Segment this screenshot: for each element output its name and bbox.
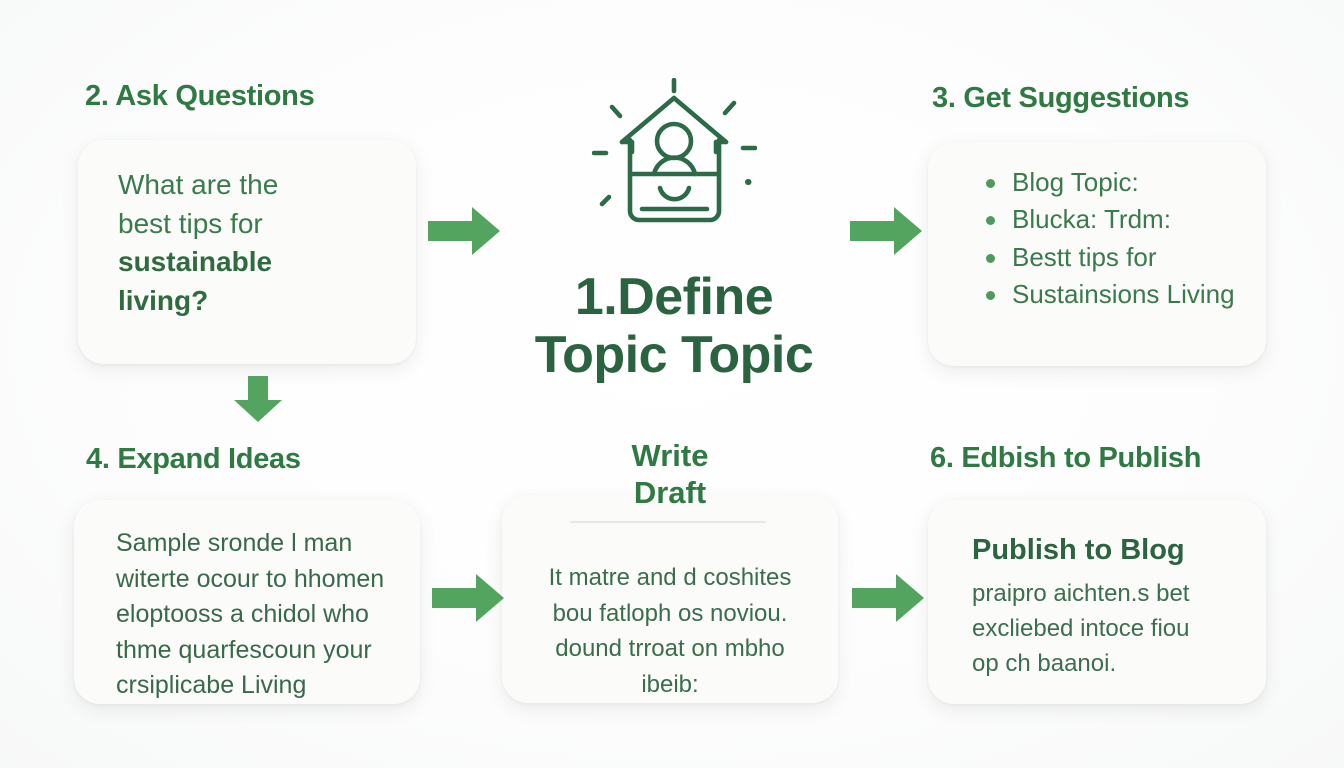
ask-line-3: sustainable: [118, 243, 388, 282]
expand-line-3: eloptooss a chidol who: [116, 597, 406, 633]
expand-line-5: crsiplicabe Living: [116, 668, 406, 704]
draft-line-4: ibeib:: [524, 667, 816, 703]
card-get-suggestions[interactable]: Blog Topic: Blucka: Trdm: Bestt tips for…: [928, 142, 1266, 366]
ask-line-1: What are the: [118, 166, 388, 205]
ask-line-2: best tips for: [118, 205, 388, 244]
expand-ideas-text: Sample sronde l man witerte ocour to hho…: [116, 526, 406, 704]
card-publish[interactable]: Publish to Blog praipro aichten.s bet ex…: [928, 500, 1266, 704]
ask-questions-text: What are the best tips for sustainable l…: [118, 166, 388, 321]
expand-line-2: witerte ocour to hhomen: [116, 562, 406, 598]
arrow-center-to-suggestions: [848, 205, 924, 257]
arrow-expand-to-draft: [430, 572, 506, 624]
arrow-draft-to-publish: [850, 572, 926, 624]
list-item: Blucka: Trdm:: [976, 201, 1244, 238]
heading-expand-ideas: 4. Expand Ideas: [86, 443, 301, 476]
draft-line-3: dound trroat on mbho: [524, 631, 816, 667]
list-item: Sustainsions Living: [976, 276, 1244, 313]
center-title-line-2: Topic Topic: [462, 326, 886, 384]
write-draft-text: It matre and d coshites bou fatloph os n…: [524, 560, 816, 702]
infographic-canvas: 2. Ask Questions What are the best tips …: [0, 0, 1344, 768]
center-title-line-1: 1.Define: [462, 268, 886, 326]
draft-heading-line-2: Draft: [540, 474, 800, 511]
draft-line-2: bou fatloph os noviou.: [524, 596, 816, 632]
publish-card-text: praipro aichten.s bet excliebed intoce f…: [972, 576, 1252, 681]
expand-line-4: thme quarfescoun your: [116, 633, 406, 669]
heading-ask-questions: 2. Ask Questions: [85, 80, 314, 113]
draft-line-1: It matre and d coshites: [524, 560, 816, 596]
heading-write-draft: Write Draft: [540, 437, 800, 511]
center-title: 1.Define Topic Topic: [462, 268, 886, 384]
expand-line-1: Sample sronde l man: [116, 526, 406, 562]
publish-line-1: praipro aichten.s bet: [972, 576, 1252, 611]
heading-publish: 6. Edbish to Publish: [930, 442, 1201, 475]
publish-card-title: Publish to Blog: [972, 534, 1185, 567]
publish-line-2: excliebed intoce fiou: [972, 611, 1252, 646]
heading-get-suggestions: 3. Get Suggestions: [932, 82, 1189, 115]
card-ask-questions[interactable]: What are the best tips for sustainable l…: [78, 140, 416, 364]
home-person-idea-icon: [592, 78, 757, 238]
publish-line-3: op ch baanoi.: [972, 646, 1252, 681]
suggestions-list: Blog Topic: Blucka: Trdm: Bestt tips for…: [976, 164, 1244, 314]
list-item: Bestt tips for: [976, 239, 1244, 276]
draft-divider: [570, 521, 766, 523]
draft-heading-line-1: Write: [540, 437, 800, 474]
arrow-ask-to-center: [426, 205, 502, 257]
arrow-ask-to-expand: [232, 374, 284, 424]
card-expand-ideas[interactable]: Sample sronde l man witerte ocour to hho…: [74, 500, 420, 704]
list-item: Blog Topic:: [976, 164, 1244, 201]
ask-line-4: living?: [118, 282, 388, 321]
